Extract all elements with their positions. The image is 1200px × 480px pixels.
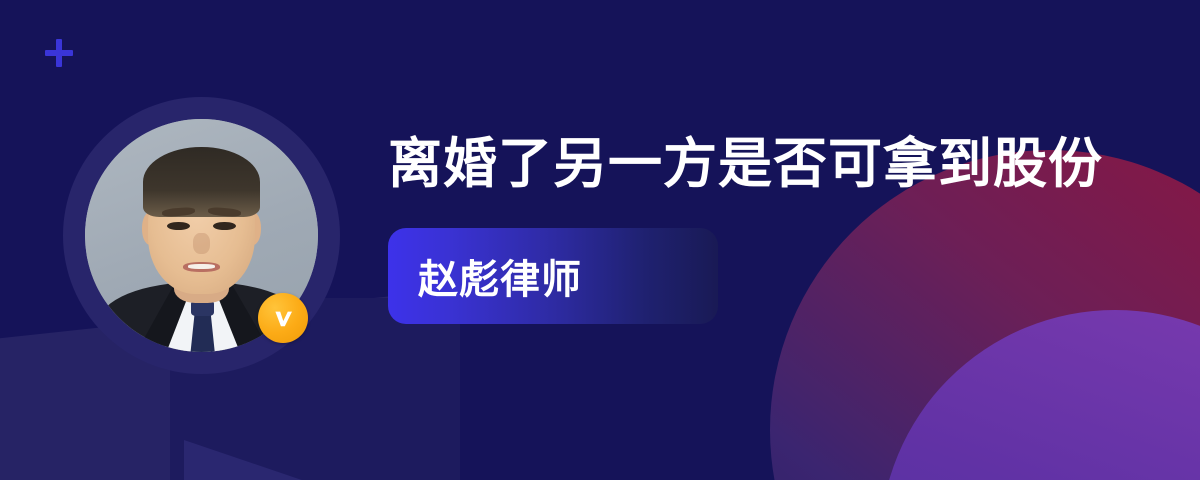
page-title: 离婚了另一方是否可拿到股份 bbox=[388, 122, 1128, 206]
gradient-blob-violet bbox=[880, 310, 1200, 480]
avatar bbox=[63, 97, 340, 374]
verified-badge-icon bbox=[258, 293, 308, 343]
video-cover-banner: 离婚了另一方是否可拿到股份 赵彪律师 bbox=[0, 0, 1200, 480]
portrait-eye-right bbox=[213, 222, 236, 230]
lawyer-name-button[interactable]: 赵彪律师 bbox=[388, 228, 718, 324]
portrait-nose bbox=[193, 233, 209, 254]
portrait-teeth bbox=[188, 264, 216, 269]
portrait-hair bbox=[143, 147, 260, 217]
wedge-shape-right bbox=[184, 440, 524, 480]
portrait-eye-left bbox=[167, 222, 190, 230]
content-column: 离婚了另一方是否可拿到股份 赵彪律师 bbox=[388, 122, 1128, 324]
plus-icon bbox=[45, 39, 73, 67]
